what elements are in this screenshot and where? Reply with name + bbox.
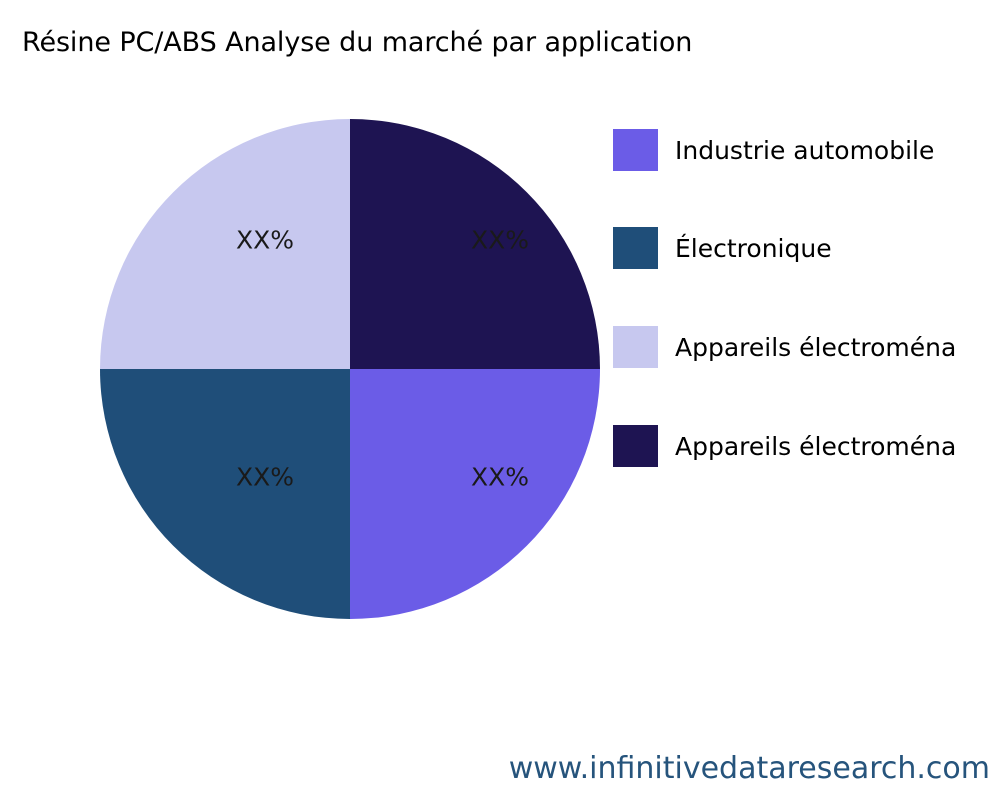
pie-slice-bottom-right[interactable] xyxy=(350,369,600,619)
pie-slice-label-top-right: XX% xyxy=(471,228,529,253)
pie-svg xyxy=(100,119,600,619)
pie-slice-top-left[interactable] xyxy=(100,119,350,369)
legend-swatch-icon xyxy=(613,326,658,368)
legend-item-appareils-electromenagers-light[interactable]: Appareils électroména xyxy=(613,317,956,377)
legend-swatch-icon xyxy=(613,227,658,269)
legend-item-label: Appareils électroména xyxy=(675,333,956,362)
pie-chart: XX% XX% XX% XX% xyxy=(100,119,600,619)
legend-item-electronique[interactable]: Électronique xyxy=(613,218,832,278)
page-title: Résine PC/ABS Analyse du marché par appl… xyxy=(22,26,692,60)
legend-item-appareils-electromenagers-dark[interactable]: Appareils électroména xyxy=(613,416,956,476)
pie-slice-label-bottom-left: XX% xyxy=(236,465,294,490)
legend-item-label: Appareils électroména xyxy=(675,432,956,461)
legend-swatch-icon xyxy=(613,425,658,467)
legend-item-industrie-automobile[interactable]: Industrie automobile xyxy=(613,120,934,180)
source-url[interactable]: www.infinitivedataresearch.com xyxy=(509,750,990,788)
pie-slice-bottom-left[interactable] xyxy=(100,369,350,619)
legend-item-label: Industrie automobile xyxy=(675,136,934,165)
legend-item-label: Électronique xyxy=(675,234,832,263)
pie-slice-label-bottom-right: XX% xyxy=(471,465,529,490)
legend: Industrie automobile Électronique Appare… xyxy=(613,110,1000,470)
chart-canvas: Résine PC/ABS Analyse du marché par appl… xyxy=(0,0,1000,800)
legend-swatch-icon xyxy=(613,129,658,171)
pie-slice-label-top-left: XX% xyxy=(236,228,294,253)
